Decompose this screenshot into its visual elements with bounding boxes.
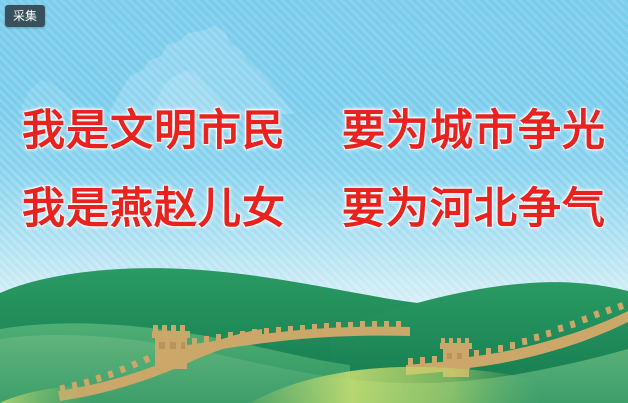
slogan-line-1-right: 要为城市争光 [342, 106, 606, 156]
slogan-line-2: 我是燕赵儿女 要为河北争气 [0, 170, 628, 248]
landscape-illustration [0, 243, 628, 403]
slogan-line-2-right: 要为河北争气 [342, 184, 606, 234]
slogan-block: 我是文明市民 要为城市争光 我是燕赵儿女 要为河北争气 [0, 92, 628, 248]
slogan-line-2-left: 我是燕赵儿女 [22, 184, 286, 234]
slogan-line-1-left: 我是文明市民 [22, 106, 286, 156]
banner-root: 我是文明市民 要为城市争光 我是燕赵儿女 要为河北争气 采集 [0, 0, 628, 403]
capture-button[interactable]: 采集 [5, 5, 45, 27]
slogan-line-1: 我是文明市民 要为城市争光 [0, 92, 628, 170]
